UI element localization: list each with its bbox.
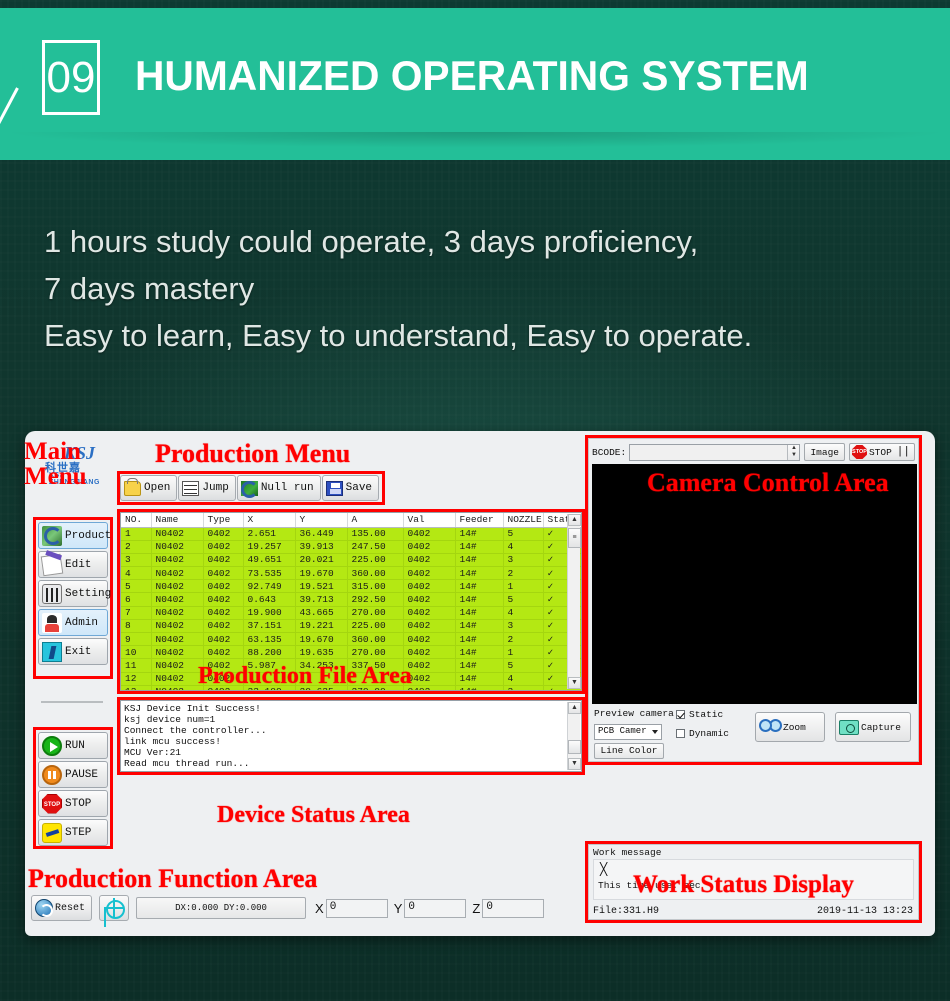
table-cell: 4 <box>503 672 543 685</box>
table-cell: 14# <box>455 527 503 540</box>
intro-line-3: Easy to learn, Easy to understand, Easy … <box>44 312 934 359</box>
table-cell: N0402 <box>151 646 203 659</box>
camera-stop-button[interactable]: STOP STOP || <box>849 443 915 461</box>
table-cell: 19.257 <box>243 540 295 553</box>
table-cell: 3 <box>503 619 543 632</box>
table-row[interactable]: 5N0402040292.74919.521315.00040214#1✓ <box>121 580 581 593</box>
stop-label: STOP <box>65 798 91 810</box>
dynamic-checkbox-row[interactable]: Dynamic <box>676 728 729 739</box>
table-cell: 4 <box>121 567 151 580</box>
nav-label-product: Product <box>65 530 111 542</box>
table-cell: 20.021 <box>295 553 347 566</box>
camera-select-value: PCB Camer <box>598 726 647 736</box>
folder-open-icon <box>124 481 141 496</box>
table-cell: 3 <box>503 553 543 566</box>
table-cell: 9 <box>121 633 151 646</box>
stop-icon: STOP <box>42 794 62 814</box>
intro-text-block: 1 hours study could operate, 3 days prof… <box>44 218 934 359</box>
scroll-thumb[interactable]: ≡ <box>568 528 581 548</box>
bcode-label: BCODE: <box>592 447 626 458</box>
table-cell: 49.651 <box>243 553 295 566</box>
chevron-down-icon <box>652 730 658 734</box>
setting-icon <box>42 584 62 604</box>
main-nav-group: Product Edit Setting Admin Exit <box>33 517 113 679</box>
table-cell: 0402 <box>203 540 243 553</box>
table-column-header[interactable]: Name <box>151 513 203 527</box>
zoom-label: Zoom <box>783 722 806 733</box>
work-file-name: File:331.H9 <box>593 906 659 917</box>
table-cell: 14# <box>455 580 503 593</box>
section-number: 09 <box>42 40 100 115</box>
intro-line-2: 7 days mastery <box>44 265 934 312</box>
static-checkbox[interactable] <box>676 710 685 719</box>
table-cell: N0402 <box>151 580 203 593</box>
table-cell: 73.535 <box>243 567 295 580</box>
scroll-up-arrow[interactable]: ▲ <box>568 514 581 526</box>
device-status-line: KSJ Device Init Success! <box>124 703 581 714</box>
dynamic-label: Dynamic <box>689 728 729 739</box>
table-row[interactable]: 8N0402040237.15119.221225.00040214#3✓ <box>121 619 581 632</box>
table-cell: N0402 <box>151 527 203 540</box>
device-status-log: KSJ Device Init Success!ksj device num=1… <box>121 701 581 769</box>
table-cell: 63.135 <box>243 633 295 646</box>
table-cell: N0402 <box>151 619 203 632</box>
annotation-label-camera-control: Camera Control Area <box>647 468 889 498</box>
image-button[interactable]: Image <box>804 443 845 461</box>
table-cell: 270.00 <box>347 606 403 619</box>
table-cell: 1 <box>121 527 151 540</box>
table-cell: 19.521 <box>295 580 347 593</box>
table-cell: 2 <box>121 540 151 553</box>
pause-button[interactable]: PAUSE <box>38 761 108 788</box>
table-column-header[interactable]: Val <box>403 513 455 527</box>
table-row[interactable]: 3N0402040249.65120.021225.00040214#3✓ <box>121 553 581 566</box>
origin-target-button[interactable] <box>99 895 129 921</box>
scroll-down-arrow[interactable]: ▼ <box>568 677 581 689</box>
table-cell: 225.00 <box>347 553 403 566</box>
table-cell: 0402 <box>403 527 455 540</box>
nav-label-admin: Admin <box>65 617 98 629</box>
zoom-button[interactable]: Zoom <box>755 712 825 742</box>
nav-button-admin[interactable]: Admin <box>38 609 108 636</box>
table-row[interactable]: 1N040204022.65136.449135.00040214#5✓ <box>121 527 581 540</box>
table-cell: 14# <box>455 646 503 659</box>
open-label: Open <box>144 482 170 494</box>
table-cell: 0402 <box>403 580 455 593</box>
camera-bottom-controls: Preview camera PCB Camer Line Color Stat… <box>592 707 917 759</box>
run-button[interactable]: RUN <box>38 732 108 759</box>
annotation-label-production-menu: Production Menu <box>155 439 350 469</box>
work-datetime: 2019-11-13 13:23 <box>817 906 913 917</box>
axis-y-input[interactable]: 0 <box>404 899 466 918</box>
dx-dy-display[interactable]: DX:0.000 DY:0.000 <box>136 897 306 919</box>
table-column-header[interactable]: A <box>347 513 403 527</box>
camera-select-dropdown[interactable]: PCB Camer <box>594 724 662 740</box>
axis-z-group: Z 0 <box>472 899 544 918</box>
table-cell: 10 <box>121 646 151 659</box>
static-label: Static <box>689 709 723 720</box>
step-label: STEP <box>65 827 91 839</box>
intro-line-1: 1 hours study could operate, 3 days prof… <box>44 218 934 265</box>
null-run-label: Null run <box>261 482 314 494</box>
table-cell: 19.670 <box>295 633 347 646</box>
admin-icon <box>42 613 62 633</box>
table-cell: 12 <box>121 672 151 685</box>
annotation-label-main-menu-line1: Main <box>24 439 124 464</box>
table-cell: 135.00 <box>347 527 403 540</box>
table-cell: 225.00 <box>347 619 403 632</box>
stop-sign-icon: STOP <box>852 445 867 459</box>
crosshair-target-icon <box>104 898 124 918</box>
table-column-header[interactable]: Y <box>295 513 347 527</box>
table-cell: 14# <box>455 685 503 691</box>
device-status-scrollbar[interactable]: ▲ ▼ <box>567 702 580 770</box>
table-cell: 6 <box>121 593 151 606</box>
table-scrollbar[interactable]: ▲ ≡ ▼ <box>567 514 580 689</box>
edit-icon <box>41 553 64 576</box>
table-row[interactable]: 10N0402040288.20019.635270.00040214#1✓ <box>121 646 581 659</box>
annotation-label-production-function: Production Function Area <box>28 864 317 894</box>
table-cell: 0402 <box>403 567 455 580</box>
bcode-spinner[interactable]: ▲▼ <box>787 445 799 460</box>
jump-button[interactable]: Jump <box>178 475 235 501</box>
table-cell: 0402 <box>203 553 243 566</box>
table-cell: N0402 <box>151 633 203 646</box>
device-status-line: Read mcu thread run... <box>124 758 581 769</box>
step-button[interactable]: STEP <box>38 819 108 846</box>
exit-icon <box>42 642 62 662</box>
camera-stop-label: STOP <box>869 447 892 458</box>
pause-label: PAUSE <box>65 769 98 781</box>
table-cell: 14# <box>455 606 503 619</box>
nav-label-edit: Edit <box>65 559 91 571</box>
nav-button-edit[interactable]: Edit <box>38 551 108 578</box>
table-cell: N0402 <box>151 672 203 685</box>
table-cell: 0402 <box>203 633 243 646</box>
table-cell: 315.00 <box>347 580 403 593</box>
table-cell: 0402 <box>203 606 243 619</box>
header-band: 09 HUMANIZED OPERATING SYSTEM <box>0 8 950 160</box>
nav-button-setting[interactable]: Setting <box>38 580 108 607</box>
table-header-row: NO.NameTypeXYAValFeederNOZZLEState <box>121 513 581 527</box>
run-label: RUN <box>65 740 85 752</box>
table-cell: 39.713 <box>295 593 347 606</box>
save-button[interactable]: Save <box>322 475 379 501</box>
table-cell: 270.00 <box>347 646 403 659</box>
run-control-group: RUN PAUSE STOP STOP STEP <box>33 727 113 849</box>
table-cell: 43.665 <box>295 606 347 619</box>
table-cell: 19.221 <box>295 619 347 632</box>
table-cell: 0402 <box>403 633 455 646</box>
line-color-button[interactable]: Line Color <box>594 743 664 759</box>
table-column-header[interactable]: Type <box>203 513 243 527</box>
table-cell: 1 <box>503 646 543 659</box>
axis-x-group: X 0 <box>315 899 388 918</box>
table-cell: 2 <box>503 567 543 580</box>
device-status-line: link mcu success! <box>124 736 581 747</box>
production-function-row: Reset DX:0.000 DY:0.000 X 0 Y 0 Z 0 <box>31 893 591 923</box>
axis-y-label: Y <box>394 901 403 916</box>
table-cell: 2 <box>503 633 543 646</box>
work-message-label: Work message <box>593 847 661 858</box>
bcode-input[interactable]: ▲▼ <box>629 444 800 461</box>
sidebar-divider <box>41 701 103 703</box>
table-cell: 0402 <box>403 646 455 659</box>
table-cell: 3 <box>121 553 151 566</box>
table-cell: 14# <box>455 567 503 580</box>
table-column-header[interactable]: NOZZLE <box>503 513 543 527</box>
table-cell: 92.749 <box>243 580 295 593</box>
axis-x-input[interactable]: 0 <box>326 899 388 918</box>
table-cell: N0402 <box>151 659 203 672</box>
device-status-line: MCU Ver:21 <box>124 747 581 758</box>
table-cell: 3 <box>503 685 543 691</box>
reset-button[interactable]: Reset <box>31 895 92 921</box>
run-icon <box>42 736 62 756</box>
table-cell: 1 <box>503 580 543 593</box>
table-column-header[interactable]: NO. <box>121 513 151 527</box>
production-menu-toolbar: Open Jump Null run Save <box>120 474 382 502</box>
table-cell: 0402 <box>203 527 243 540</box>
table-cell: 14# <box>455 633 503 646</box>
table-cell: 360.00 <box>347 567 403 580</box>
table-cell: N0402 <box>151 606 203 619</box>
stop-button[interactable]: STOP STOP <box>38 790 108 817</box>
camera-top-bar: BCODE: ▲▼ Image STOP STOP || <box>592 442 915 462</box>
table-cell: 37.151 <box>243 619 295 632</box>
table-cell: 14# <box>455 593 503 606</box>
table-cell: 13 <box>121 685 151 691</box>
status-scroll-thumb[interactable] <box>568 740 581 754</box>
device-status-line: ksj device num=1 <box>124 714 581 725</box>
table-cell: 11 <box>121 659 151 672</box>
axis-y-group: Y 0 <box>394 899 467 918</box>
table-column-header[interactable]: Feeder <box>455 513 503 527</box>
axis-z-input[interactable]: 0 <box>482 899 544 918</box>
table-cell: 4 <box>503 606 543 619</box>
table-cell: N0402 <box>151 553 203 566</box>
camera-preview-view[interactable] <box>592 464 917 704</box>
table-cell: 5 <box>503 527 543 540</box>
nav-button-exit[interactable]: Exit <box>38 638 108 665</box>
page-title: HUMANIZED OPERATING SYSTEM <box>135 52 809 100</box>
table-cell: 14# <box>455 659 503 672</box>
nav-button-product[interactable]: Product <box>38 522 108 549</box>
table-cell: 14# <box>455 540 503 553</box>
table-cell: 2.651 <box>243 527 295 540</box>
table-cell: 14# <box>455 672 503 685</box>
work-marker-icon: ╳ <box>600 862 607 877</box>
static-checkbox-row[interactable]: Static <box>676 709 723 720</box>
table-cell: 0402 <box>403 553 455 566</box>
open-button[interactable]: Open <box>120 475 177 501</box>
table-column-header[interactable]: X <box>243 513 295 527</box>
step-icon <box>42 823 62 843</box>
jump-icon <box>182 481 199 496</box>
table-row[interactable]: 7N0402040219.90043.665270.00040214#4✓ <box>121 606 581 619</box>
table-cell: 0402 <box>203 593 243 606</box>
annotation-label-production-file: Production File Area <box>198 663 412 690</box>
product-icon <box>42 526 62 546</box>
table-cell: 19.900 <box>243 606 295 619</box>
table-cell: 5 <box>121 580 151 593</box>
axis-x-label: X <box>315 901 324 916</box>
device-status-line: Connect the controller... <box>124 725 581 736</box>
table-cell: 14# <box>455 553 503 566</box>
pause-bars-icon: || <box>897 446 910 458</box>
table-cell: N0402 <box>151 540 203 553</box>
table-cell: 5 <box>503 593 543 606</box>
table-cell: 0402 <box>403 540 455 553</box>
annotation-label-main-menu-line2: Menu <box>24 464 124 489</box>
annotation-label-work-status: Work Status Display <box>633 871 854 899</box>
table-cell: 0402 <box>203 580 243 593</box>
table-cell: 39.913 <box>295 540 347 553</box>
table-cell: 88.200 <box>243 646 295 659</box>
application-window: KSJ 科世嘉 KSJ ZHENGJIANG Product Edit Sett… <box>25 431 935 936</box>
nav-label-exit: Exit <box>65 646 91 658</box>
magnifier-icon <box>759 718 783 736</box>
table-cell: 19.635 <box>295 646 347 659</box>
table-cell: 0402 <box>203 646 243 659</box>
axis-z-label: Z <box>472 901 480 916</box>
device-status-panel[interactable]: KSJ Device Init Success!ksj device num=1… <box>120 700 582 772</box>
table-row[interactable]: 6N040204020.64339.713292.50040214#5✓ <box>121 593 581 606</box>
table-cell: N0402 <box>151 593 203 606</box>
table-cell: 4 <box>503 540 543 553</box>
camera-icon <box>839 720 859 735</box>
table-row[interactable]: 2N0402040219.25739.913247.50040214#4✓ <box>121 540 581 553</box>
table-cell: 0402 <box>403 619 455 632</box>
table-cell: 292.50 <box>347 593 403 606</box>
null-run-button[interactable]: Null run <box>237 475 321 501</box>
main-menu-sidebar: KSJ 科世嘉 KSJ ZHENGJIANG Product Edit Sett… <box>29 439 117 839</box>
table-cell: N0402 <box>151 685 203 691</box>
capture-label: Capture <box>861 722 901 733</box>
table-cell: N0402 <box>151 567 203 580</box>
table-cell: 0402 <box>403 606 455 619</box>
table-cell: 5 <box>503 659 543 672</box>
reset-label: Reset <box>55 903 85 914</box>
table-cell: 0.643 <box>243 593 295 606</box>
table-cell: 360.00 <box>347 633 403 646</box>
reset-icon <box>35 899 53 917</box>
table-cell: 0402 <box>203 567 243 580</box>
nav-label-setting: Setting <box>65 588 111 600</box>
table-cell: 7 <box>121 606 151 619</box>
table-cell: 8 <box>121 619 151 632</box>
capture-button[interactable]: Capture <box>835 712 911 742</box>
preview-camera-label: Preview camera <box>594 708 674 719</box>
table-cell: 14# <box>455 619 503 632</box>
table-row[interactable]: 4N0402040273.53519.670360.00040214#2✓ <box>121 567 581 580</box>
jump-label: Jump <box>202 482 228 494</box>
annotation-label-device-status: Device Status Area <box>217 802 410 829</box>
null-run-icon <box>241 481 258 496</box>
pause-icon <box>42 765 62 785</box>
table-cell: 36.449 <box>295 527 347 540</box>
header-slash-decoration <box>0 87 19 134</box>
table-row[interactable]: 9N0402040263.13519.670360.00040214#2✓ <box>121 633 581 646</box>
table-cell: 247.50 <box>347 540 403 553</box>
table-cell: 0402 <box>203 619 243 632</box>
status-scroll-down-arrow[interactable]: ▼ <box>568 758 581 770</box>
status-scroll-up-arrow[interactable]: ▲ <box>568 702 581 714</box>
dynamic-checkbox[interactable] <box>676 729 685 738</box>
table-cell: 19.670 <box>295 567 347 580</box>
floppy-disk-icon <box>326 481 343 496</box>
annotation-label-main-menu: Main Menu <box>24 439 124 489</box>
table-cell: 0402 <box>403 593 455 606</box>
save-label: Save <box>346 482 372 494</box>
